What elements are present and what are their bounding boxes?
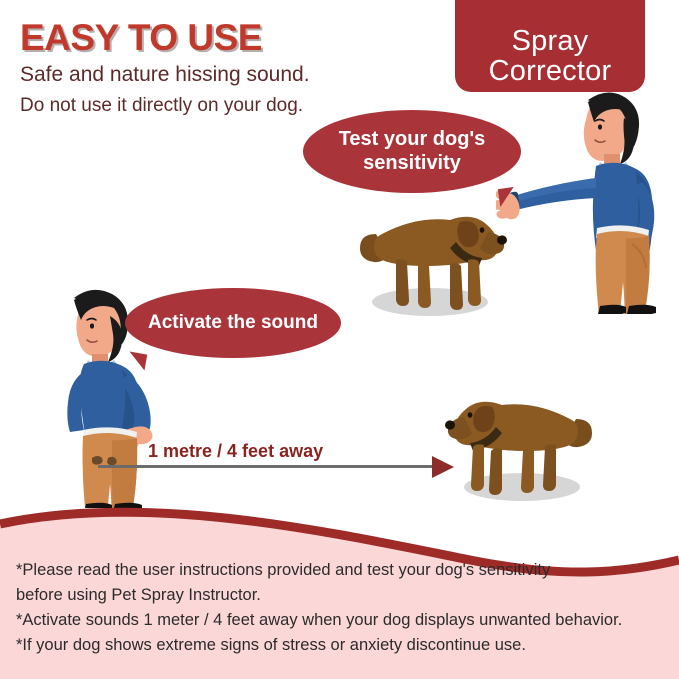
- subtitle-primary: Safe and nature hissing sound.: [20, 63, 310, 87]
- distance-label: 1 metre / 4 feet away: [148, 441, 323, 462]
- spray-corrector-badge: Spray Corrector: [455, 0, 645, 92]
- distance-line: [98, 465, 438, 468]
- speech-bubble-activate-sound: Activate the sound: [125, 288, 341, 358]
- page-title: EASY TO USE: [20, 17, 262, 59]
- footer-line-1: *Please read the user instructions provi…: [16, 558, 676, 583]
- infographic-canvas: EASY TO USE Safe and nature hissing soun…: [0, 0, 679, 679]
- person-right-illustration: [496, 82, 660, 314]
- dog-bottom-illustration: [444, 380, 600, 508]
- speech-bubble-test-sensitivity: Test your dog's sensitivity: [303, 110, 521, 193]
- bubble-left-line-1: Activate the sound: [148, 312, 318, 334]
- footer-line-2: before using Pet Spray Instructor.: [16, 583, 676, 608]
- bubble-top-line-1: Test your dog's: [339, 128, 486, 152]
- badge-line-1: Spray: [512, 26, 589, 56]
- bubble-top-line-2: sensitivity: [339, 152, 486, 176]
- footer-line-3: *Activate sounds 1 meter / 4 feet away w…: [16, 608, 676, 633]
- arrow-right-icon: [432, 456, 454, 478]
- dog-top-illustration: [352, 198, 508, 320]
- footer-disclaimer: *Please read the user instructions provi…: [16, 558, 676, 658]
- subtitle-secondary: Do not use it directly on your dog.: [20, 95, 303, 117]
- bubble-tail-icon: [127, 352, 148, 371]
- footer-line-4: *If your dog shows extreme signs of stre…: [16, 633, 676, 658]
